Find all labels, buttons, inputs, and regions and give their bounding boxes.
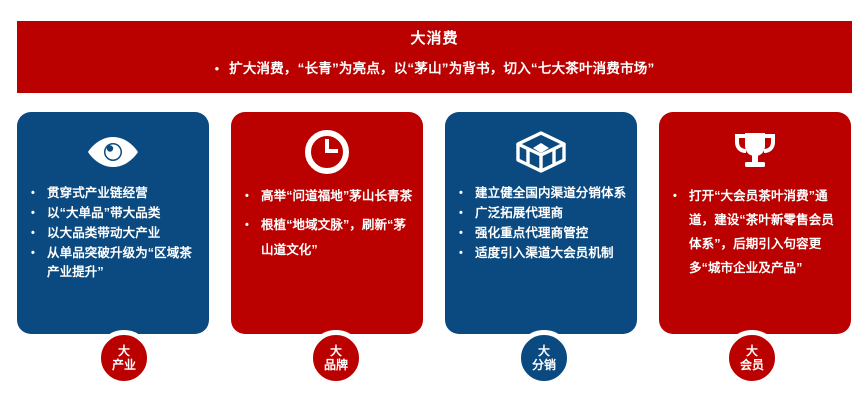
list-item-text: 以大品类带动大产业 xyxy=(47,224,199,243)
list-item-text: 以“大单品”带大品类 xyxy=(47,204,199,223)
bullet-marker: • xyxy=(669,184,689,208)
list-item-text: 根植“地域文脉”，刷新“茅山道文化” xyxy=(261,213,413,263)
list-item-text: 广泛拓展代理商 xyxy=(475,204,627,223)
list-item-text: 建立健全国内渠道分销体系 xyxy=(475,184,627,203)
list-item: • 适度引入渠道大会员机制 xyxy=(455,244,627,263)
bullet-marker: • xyxy=(27,244,47,263)
badge-line-1: 大 xyxy=(118,344,130,358)
badge-line-1: 大 xyxy=(538,344,550,358)
card-bullet-list: • 贯穿式产业链经营 • 以“大单品”带大品类 • 以大品类带动大产业 • 从单… xyxy=(27,184,199,282)
badge-distribution[interactable]: 大 分销 xyxy=(516,330,572,386)
list-item-text: 适度引入渠道大会员机制 xyxy=(475,244,627,263)
bullet-marker: • xyxy=(27,204,47,223)
card-bullet-list: • 高举“问道福地”茅山长青茶 • 根植“地域文脉”，刷新“茅山道文化” xyxy=(241,184,413,263)
card-brand[interactable]: • 高举“问道福地”茅山长青茶 • 根植“地域文脉”，刷新“茅山道文化” xyxy=(231,112,423,334)
header-banner: 大消费 • 扩大消费，“长青”为亮点，以“茅山”为背书，切入“七大茶叶消费市场” xyxy=(17,21,852,93)
badge-brand[interactable]: 大 品牌 xyxy=(308,330,364,386)
list-item-text: 从单品突破升级为“区域茶产业提升” xyxy=(47,244,199,282)
eye-icon xyxy=(27,124,199,180)
list-item: • 建立健全国内渠道分销体系 xyxy=(455,184,627,203)
list-item-text: 强化重点代理商管控 xyxy=(475,224,627,243)
badge-line-2: 产业 xyxy=(112,358,136,372)
badge-industry[interactable]: 大 产业 xyxy=(96,330,152,386)
bullet-marker: • xyxy=(455,224,475,243)
list-item: • 以大品类带动大产业 xyxy=(27,224,199,243)
clock-icon xyxy=(241,124,413,180)
badge-membership[interactable]: 大 会员 xyxy=(724,330,780,386)
list-item: • 高举“问道福地”茅山长青茶 xyxy=(241,184,413,209)
bullet-marker: • xyxy=(455,244,475,263)
card-bullet-list: • 建立健全国内渠道分销体系 • 广泛拓展代理商 • 强化重点代理商管控 • 适… xyxy=(455,184,627,263)
slide-canvas: 大消费 • 扩大消费，“长青”为亮点，以“茅山”为背书，切入“七大茶叶消费市场”… xyxy=(0,0,866,418)
list-item: • 以“大单品”带大品类 xyxy=(27,204,199,223)
badge-line-2: 品牌 xyxy=(324,358,348,372)
list-item: • 强化重点代理商管控 xyxy=(455,224,627,243)
bullet-marker: • xyxy=(241,184,261,209)
banner-title: 大消费 xyxy=(17,27,852,51)
banner-bullet-text: 扩大消费，“长青”为亮点，以“茅山”为背书，切入“七大茶叶消费市场” xyxy=(229,60,654,78)
list-item-text: 打开“大会员茶叶消费”通道，建设“茶叶新零售会员体系”，后期引入句容更多“城市企… xyxy=(689,184,841,280)
card-row: • 贯穿式产业链经营 • 以“大单品”带大品类 • 以大品类带动大产业 • 从单… xyxy=(17,112,852,334)
list-item: • 根植“地域文脉”，刷新“茅山道文化” xyxy=(241,213,413,263)
bullet-marker: • xyxy=(455,184,475,203)
card-distribution[interactable]: • 建立健全国内渠道分销体系 • 广泛拓展代理商 • 强化重点代理商管控 • 适… xyxy=(445,112,637,334)
cube-icon xyxy=(455,124,627,180)
list-item: • 贯穿式产业链经营 xyxy=(27,184,199,203)
banner-bullet-marker: • xyxy=(215,60,220,78)
card-bullet-list: • 打开“大会员茶叶消费”通道，建设“茶叶新零售会员体系”，后期引入句容更多“城… xyxy=(669,184,841,280)
bullet-marker: • xyxy=(27,184,47,203)
list-item: • 广泛拓展代理商 xyxy=(455,204,627,223)
banner-bullet-row: • 扩大消费，“长青”为亮点，以“茅山”为背书，切入“七大茶叶消费市场” xyxy=(17,60,852,78)
list-item-text: 贯穿式产业链经营 xyxy=(47,184,199,203)
bullet-marker: • xyxy=(27,224,47,243)
list-item: • 从单品突破升级为“区域茶产业提升” xyxy=(27,244,199,282)
card-membership[interactable]: • 打开“大会员茶叶消费”通道，建设“茶叶新零售会员体系”，后期引入句容更多“城… xyxy=(659,112,851,334)
badge-line-1: 大 xyxy=(330,344,342,358)
list-item: • 打开“大会员茶叶消费”通道，建设“茶叶新零售会员体系”，后期引入句容更多“城… xyxy=(669,184,841,280)
list-item-text: 高举“问道福地”茅山长青茶 xyxy=(261,184,413,209)
badge-line-1: 大 xyxy=(746,344,758,358)
card-industry[interactable]: • 贯穿式产业链经营 • 以“大单品”带大品类 • 以大品类带动大产业 • 从单… xyxy=(17,112,209,334)
bullet-marker: • xyxy=(241,213,261,238)
trophy-icon xyxy=(669,124,841,180)
bullet-marker: • xyxy=(455,204,475,223)
badge-line-2: 分销 xyxy=(532,358,556,372)
badge-line-2: 会员 xyxy=(740,358,764,372)
